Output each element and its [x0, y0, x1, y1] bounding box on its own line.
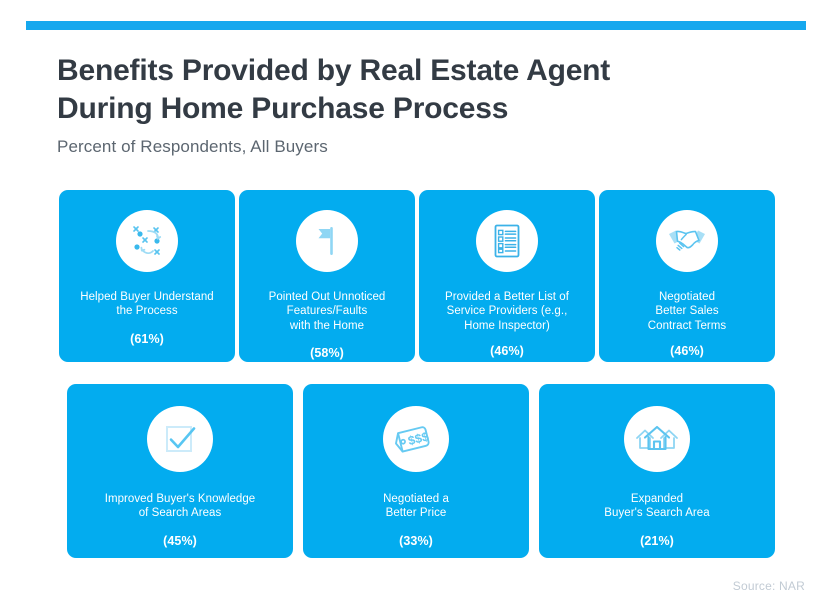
benefit-card-expanded-search-area[interactable]: Expanded Buyer's Search Area (21%) — [539, 384, 775, 558]
icon-container — [476, 210, 538, 272]
checklist-document-icon — [486, 220, 528, 262]
benefit-card-helped-buyer-understand[interactable]: Helped Buyer Understand the Process (61%… — [59, 190, 235, 362]
icon-container — [624, 406, 690, 472]
houses-icon — [634, 416, 680, 462]
icon-container: $$$ — [383, 406, 449, 472]
benefit-card-improved-knowledge-search-areas[interactable]: Improved Buyer's Knowledge of Search Are… — [67, 384, 293, 558]
card-label: Expanded Buyer's Search Area — [604, 492, 709, 521]
card-value: (58%) — [310, 346, 344, 360]
benefit-card-better-list-providers[interactable]: Provided a Better List of Service Provid… — [419, 190, 595, 362]
card-value: (21%) — [640, 534, 674, 548]
price-tag-icon: $$$ — [393, 416, 439, 462]
source-attribution: Source: NAR — [733, 579, 805, 593]
benefit-card-negotiated-contract-terms[interactable]: Negotiated Better Sales Contract Terms (… — [599, 190, 775, 362]
checkbox-check-icon — [158, 417, 202, 461]
handshake-icon — [665, 219, 709, 263]
icon-container — [147, 406, 213, 472]
card-label: Helped Buyer Understand the Process — [80, 290, 213, 319]
card-value: (46%) — [670, 344, 704, 358]
card-label: Negotiated Better Sales Contract Terms — [648, 290, 726, 333]
card-value: (33%) — [399, 534, 433, 548]
card-label: Provided a Better List of Service Provid… — [445, 290, 569, 333]
icon-container — [116, 210, 178, 272]
infographic-root: Benefits Provided by Real Estate Agent D… — [0, 0, 831, 601]
benefit-card-negotiated-better-price[interactable]: $$$ Negotiated a Better Price (33%) — [303, 384, 529, 558]
card-label: Improved Buyer's Knowledge of Search Are… — [105, 492, 256, 521]
icon-container — [656, 210, 718, 272]
strategy-playbook-icon — [126, 220, 168, 262]
card-value: (61%) — [130, 332, 164, 346]
card-value: (46%) — [490, 344, 524, 358]
icon-container — [296, 210, 358, 272]
flag-icon — [306, 220, 348, 262]
card-value: (45%) — [163, 534, 197, 548]
benefit-card-pointed-out-faults[interactable]: Pointed Out Unnoticed Features/Faults wi… — [239, 190, 415, 362]
card-label: Negotiated a Better Price — [383, 492, 449, 521]
cards-grid: Helped Buyer Understand the Process (61%… — [0, 0, 831, 601]
card-label: Pointed Out Unnoticed Features/Faults wi… — [269, 290, 386, 333]
